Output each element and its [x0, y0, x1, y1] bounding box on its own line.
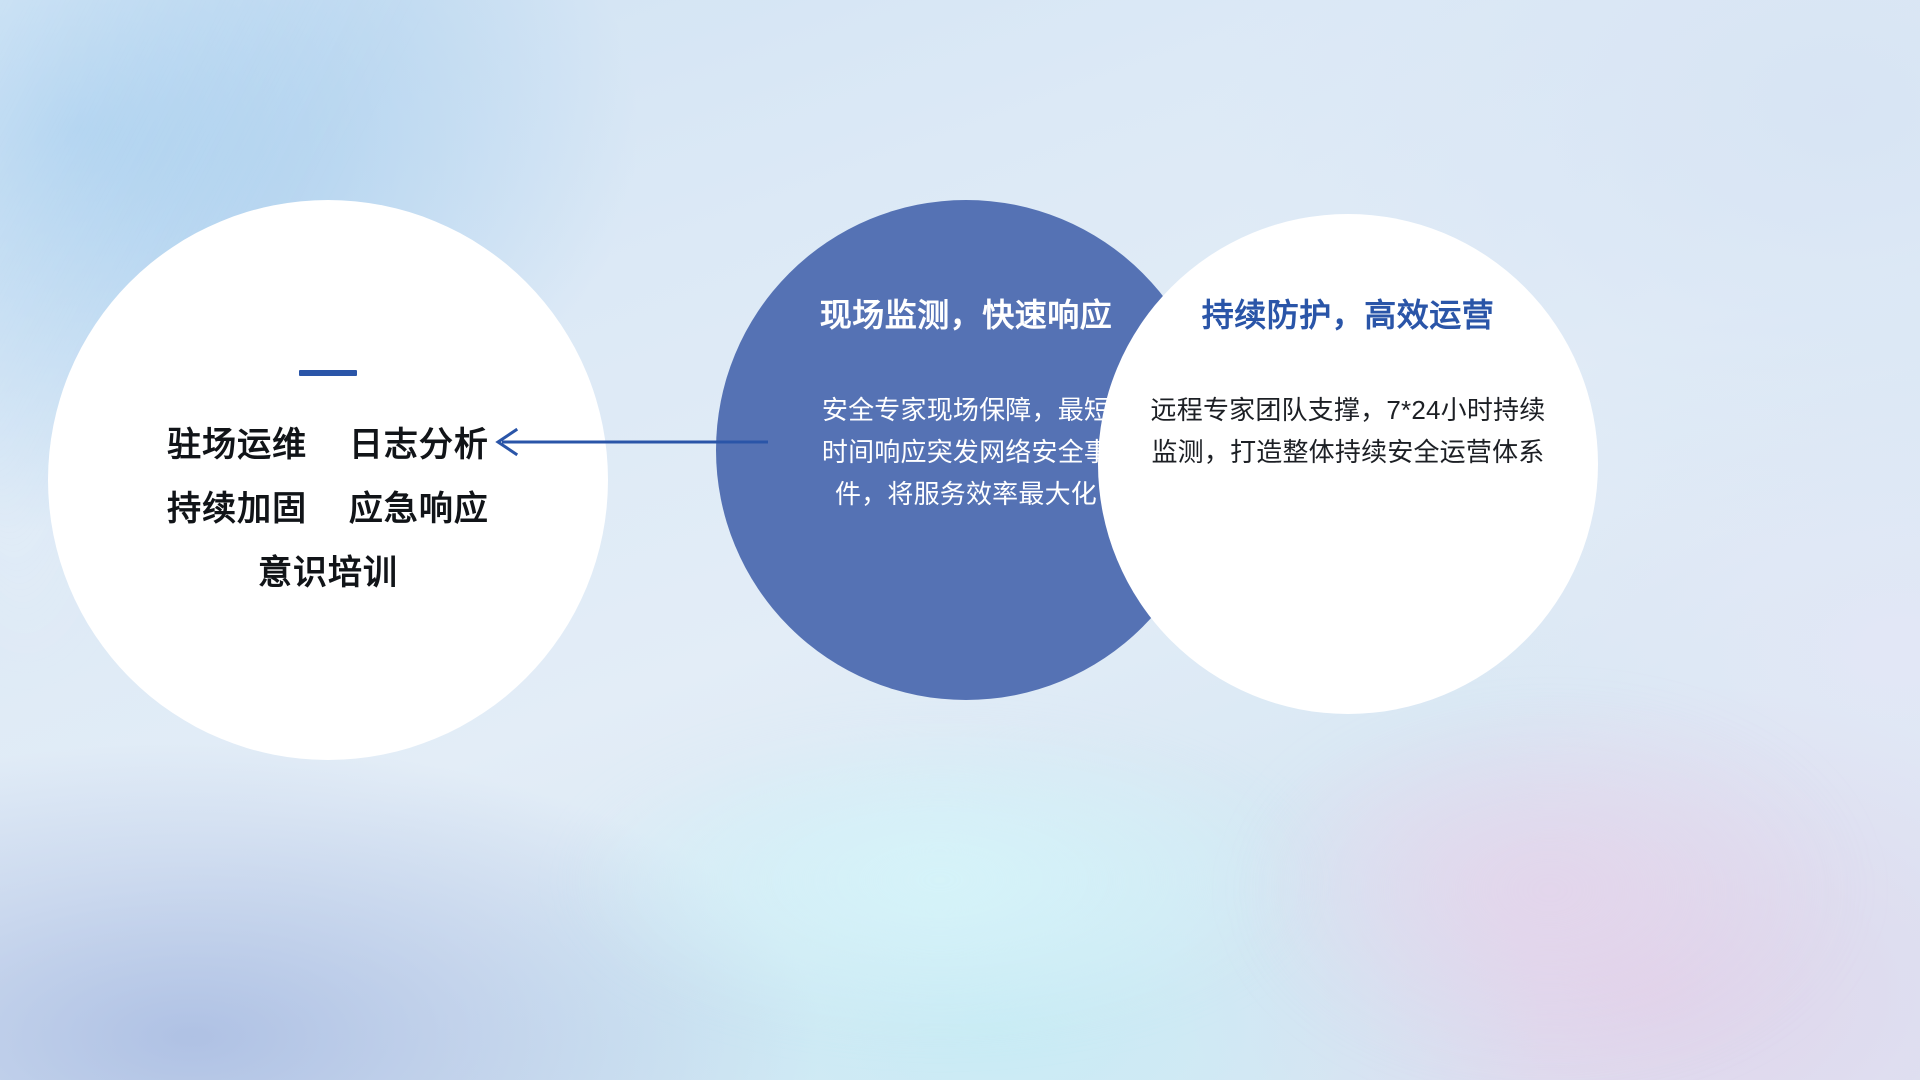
left-circle-line-1: 驻场运维 日志分析 [167, 428, 489, 462]
background-glow-bottom-right [1240, 700, 1860, 1080]
right-circle-body: 远程专家团队支撑，7*24小时持续监测，打造整体持续安全运营体系 [1143, 389, 1553, 473]
right-circle-content: 持续防护，高效运营 远程专家团队支撑，7*24小时持续监测，打造整体持续安全运营… [1098, 214, 1598, 714]
background-glow-bottom-center [560, 720, 1320, 1040]
right-circle-card[interactable]: 持续防护，高效运营 远程专家团队支撑，7*24小时持续监测，打造整体持续安全运营… [1098, 214, 1598, 714]
middle-circle-body: 安全专家现场保障，最短时间响应突发网络安全事件，将服务效率最大化 [816, 389, 1116, 515]
left-circle-line-3: 意识培训 [258, 556, 398, 590]
slide-canvas: 驻场运维 日志分析 持续加固 应急响应 意识培训 现场监测，快速响应 安全专家现… [0, 0, 1920, 1080]
left-circle-card[interactable]: 驻场运维 日志分析 持续加固 应急响应 意识培训 [48, 200, 608, 760]
left-circle-content: 驻场运维 日志分析 持续加固 应急响应 意识培训 [48, 200, 608, 760]
middle-circle-title: 现场监测，快速响应 [820, 298, 1113, 333]
right-circle-title: 持续防护，高效运营 [1202, 298, 1495, 333]
left-circle-line-2: 持续加固 应急响应 [167, 492, 489, 526]
accent-dash-icon [299, 370, 357, 376]
